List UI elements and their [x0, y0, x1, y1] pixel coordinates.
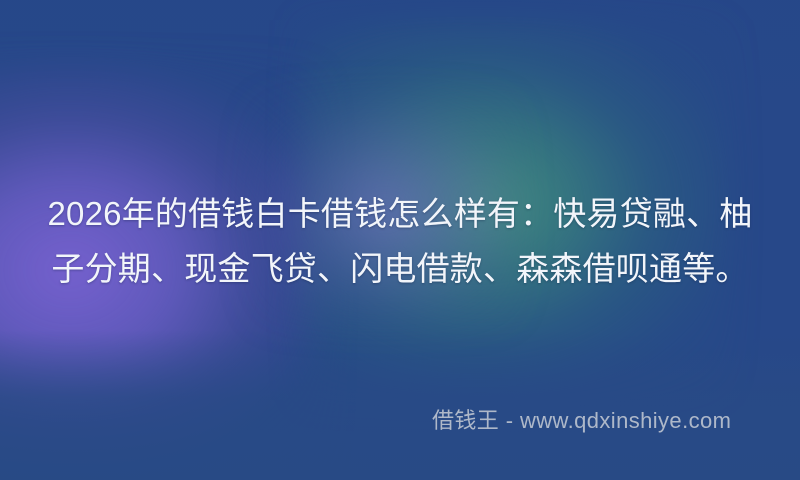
background-bottom-wash [0, 330, 800, 480]
headline-text: 2026年的借钱白卡借钱怎么样有：快易贷融、柚子分期、现金飞贷、闪电借款、森森借… [0, 186, 800, 296]
background-top-wash [0, 0, 800, 140]
watermark-text: 借钱王 - www.qdxinshiye.com [432, 406, 731, 436]
promo-banner: 2026年的借钱白卡借钱怎么样有：快易贷融、柚子分期、现金飞贷、闪电借款、森森借… [0, 0, 800, 480]
